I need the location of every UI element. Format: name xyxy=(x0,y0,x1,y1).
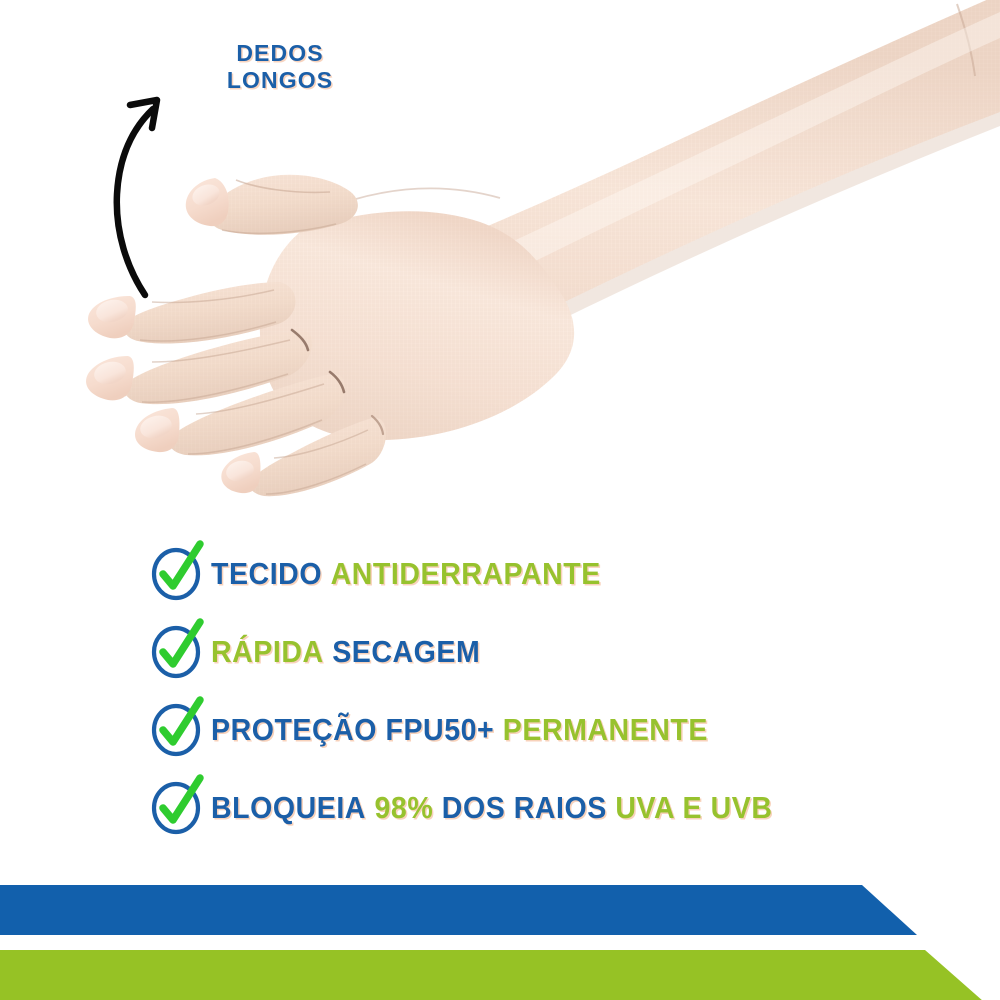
feature-segment: 98% xyxy=(375,790,434,825)
feature-text: PROTEÇÃO FPU50+PERMANENTE xyxy=(211,714,708,745)
feature-segment: SECAGEM xyxy=(332,634,480,669)
feature-item: PROTEÇÃO FPU50+PERMANENTE xyxy=(150,690,970,768)
banner-green-bar xyxy=(0,950,1000,1000)
feature-segment: ANTIDERRAPANTE xyxy=(331,556,601,591)
check-circle-icon xyxy=(150,702,204,756)
feature-segment: TECIDO xyxy=(211,556,322,591)
feature-segment: BLOQUEIA xyxy=(211,790,366,825)
check-circle-icon xyxy=(150,780,204,834)
feature-segment: PERMANENTE xyxy=(503,712,708,747)
feature-segment: PROTEÇÃO FPU50+ xyxy=(211,712,494,747)
product-photo xyxy=(0,0,1000,520)
bottom-banner xyxy=(0,860,1000,1000)
feature-item: BLOQUEIA98%DOS RAIOSUVA E UVB xyxy=(150,768,970,846)
banner-blue-bar xyxy=(0,885,917,935)
check-circle-icon xyxy=(150,546,204,600)
feature-segment: DOS RAIOS xyxy=(442,790,607,825)
feature-segment: RÁPIDA xyxy=(211,634,324,669)
feature-item: RÁPIDASECAGEM xyxy=(150,612,970,690)
check-circle-icon xyxy=(150,624,204,678)
feature-segment: UVA E UVB xyxy=(615,790,772,825)
feature-text: RÁPIDASECAGEM xyxy=(211,636,480,667)
feature-item: TECIDOANTIDERRAPANTE xyxy=(150,534,970,612)
product-infographic: DEDOS LONGOS TECIDOANTIDERRAPANTE xyxy=(0,0,1000,1000)
glove-thumb xyxy=(186,175,358,235)
feature-text: TECIDOANTIDERRAPANTE xyxy=(211,558,601,589)
feature-text: BLOQUEIA98%DOS RAIOSUVA E UVB xyxy=(211,792,772,823)
feature-list: TECIDOANTIDERRAPANTE RÁPIDASECAGEM xyxy=(150,534,970,846)
